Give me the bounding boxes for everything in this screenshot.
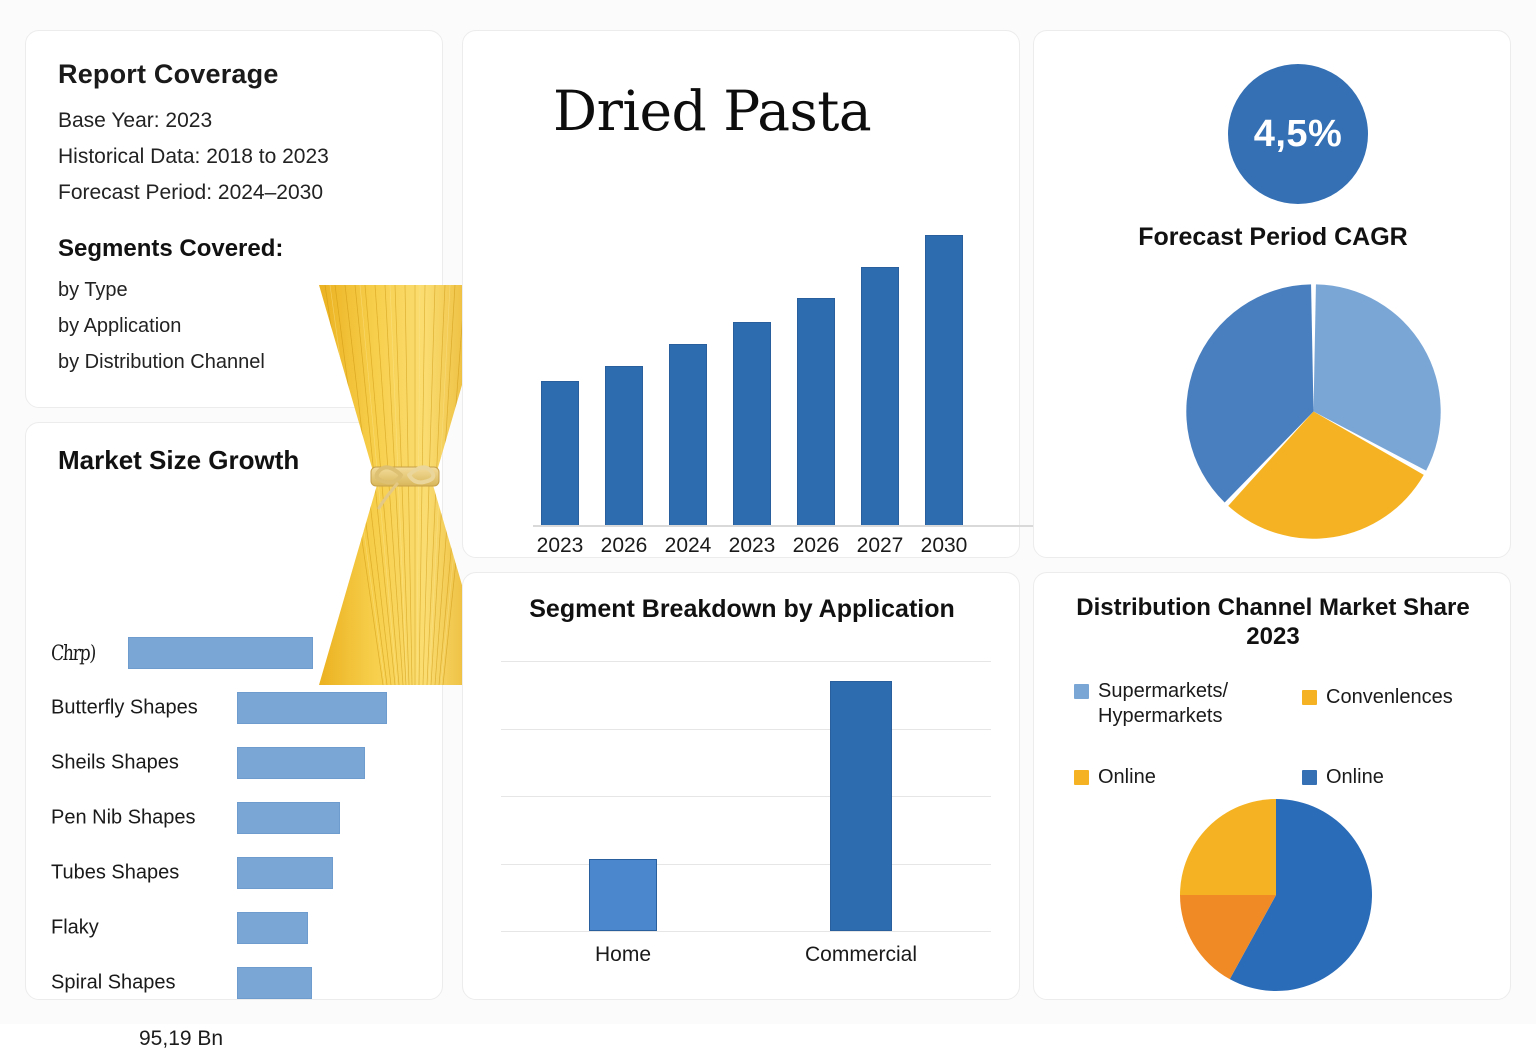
market-size-bar-label: Butterfly Shapes xyxy=(51,697,198,720)
segment-bar xyxy=(830,681,892,931)
market-size-bar xyxy=(237,802,340,834)
market-size-bar xyxy=(237,692,387,724)
market-size-bar-label: Pen Nib Shapes xyxy=(51,807,196,830)
forecast-cagr-panel: 4,5% Forecast Period CAGR xyxy=(1033,30,1511,558)
distribution-legend-label: Supermarkets/Hypermarkets xyxy=(1098,679,1228,729)
segment-gridline xyxy=(501,729,991,730)
report-coverage-panel: Report Coverage Base Year: 2023 Historic… xyxy=(25,30,443,408)
market-size-bar-label: Spiral Shapes xyxy=(51,972,176,995)
segment-gridline xyxy=(501,661,991,662)
market-size-bar-label: Sheils Shapes xyxy=(51,752,179,775)
segment-gridline xyxy=(501,864,991,865)
distribution-legend-label: Online xyxy=(1326,765,1384,790)
legend-swatch-icon xyxy=(1302,770,1317,785)
dried-pasta-bar xyxy=(925,235,963,526)
report-base-year: Base Year: 2023 xyxy=(58,109,212,133)
dried-pasta-bar xyxy=(733,322,771,526)
segment-gridline xyxy=(501,796,991,797)
report-forecast-period: Forecast Period: 2024–2030 xyxy=(58,181,323,205)
segment-tick-label: Home xyxy=(543,943,703,967)
dried-pasta-bar xyxy=(797,298,835,526)
market-size-bar-label: Tubes Shapes xyxy=(51,862,179,885)
segment-by-application: by Application xyxy=(58,315,181,338)
market-size-bar xyxy=(237,912,308,944)
market-size-bar-row: Flaky xyxy=(26,906,444,950)
report-historical-data: Historical Data: 2018 to 2023 xyxy=(58,145,329,169)
distribution-channel-panel: Distribution Channel Market Share 2023 S… xyxy=(1033,572,1511,1000)
market-size-growth-title: Market Size Growth xyxy=(58,445,299,476)
segment-breakdown-title: Segment Breakdown by Application xyxy=(463,595,1021,624)
segment-breakdown-bar-chart xyxy=(501,661,991,931)
cagr-value: 4,5% xyxy=(1254,113,1343,156)
market-size-bar-row: Chrp) xyxy=(26,631,444,675)
market-size-bar-label: Chrp) xyxy=(50,641,95,665)
segment-bar xyxy=(589,859,657,931)
legend-swatch-icon xyxy=(1074,770,1089,785)
segment-by-distribution-channel: by Distribution Channel xyxy=(58,351,265,374)
distribution-legend-label: Online xyxy=(1098,765,1156,790)
segment-gridline xyxy=(501,931,991,932)
market-size-bar-label: Flaky xyxy=(51,917,99,940)
distribution-legend-item: Online xyxy=(1302,765,1482,790)
distribution-title-line1: Distribution Channel Market Share xyxy=(1076,594,1469,621)
market-size-growth-panel: Market Size Growth 95,19 Bn Chrp)Butterf… xyxy=(25,422,443,1000)
dried-pasta-bar xyxy=(669,344,707,526)
market-size-bar-row: Pen Nib Shapes xyxy=(26,796,444,840)
market-size-bar xyxy=(237,967,312,999)
market-size-bar xyxy=(237,857,333,889)
distribution-legend-item: Supermarkets/Hypermarkets xyxy=(1074,679,1284,729)
dried-pasta-bar xyxy=(861,267,899,526)
market-size-bar xyxy=(237,747,365,779)
market-size-bar xyxy=(128,637,313,669)
distribution-legend-item: Convenlences xyxy=(1302,685,1502,710)
market-size-bar-row: Spiral Shapes xyxy=(26,961,444,1005)
market-size-bar-row: Tubes Shapes xyxy=(26,851,444,895)
distribution-legend-label: Convenlences xyxy=(1326,685,1453,710)
segment-share-pie-chart xyxy=(1181,279,1446,544)
distribution-legend-item: Online xyxy=(1074,765,1254,790)
cagr-label: Forecast Period CAGR xyxy=(1034,223,1512,252)
dried-pasta-tick-label: 2030 xyxy=(905,534,983,558)
distribution-channel-pie-chart xyxy=(1176,795,1376,995)
legend-swatch-icon xyxy=(1074,684,1089,699)
distribution-pie-slice xyxy=(1180,799,1276,895)
segment-tick-label: Commercial xyxy=(781,943,941,967)
segment-breakdown-panel: Segment Breakdown by Application HomeCom… xyxy=(462,572,1020,1000)
distribution-channel-title: Distribution Channel Market Share 2023 xyxy=(1040,593,1506,652)
segments-covered-title: Segments Covered: xyxy=(58,235,283,263)
segment-by-type: by Type xyxy=(58,279,128,302)
report-coverage-title: Report Coverage xyxy=(58,59,279,90)
distribution-title-line2: 2023 xyxy=(1246,623,1299,650)
dried-pasta-chart-panel: Dried Pasta 2023202620242023202620272030 xyxy=(462,30,1020,558)
market-size-bar-row: Butterfly Shapes xyxy=(26,686,444,730)
dried-pasta-bar xyxy=(541,381,579,526)
market-size-value-label: 95,19 Bn xyxy=(139,1027,223,1051)
legend-swatch-icon xyxy=(1302,690,1317,705)
dried-pasta-bar xyxy=(605,366,643,526)
page-title: Dried Pasta xyxy=(553,79,871,143)
cagr-circle-badge: 4,5% xyxy=(1228,64,1368,204)
market-size-bar-row: Sheils Shapes xyxy=(26,741,444,785)
